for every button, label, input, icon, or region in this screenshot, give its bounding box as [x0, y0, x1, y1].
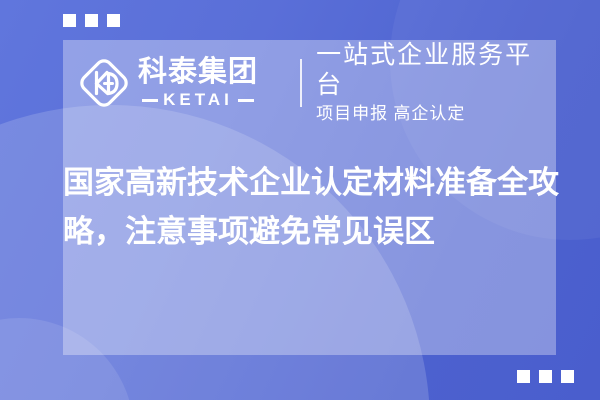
banner-header: 科泰集团 KETAI 一站式企业服务平台 项目申报 高企认定	[63, 40, 556, 125]
decorative-squares-bottom	[517, 370, 574, 383]
square-icon	[107, 14, 120, 27]
slogan-sub: 项目申报 高企认定	[316, 102, 556, 126]
promo-banner: 科泰集团 KETAI 一站式企业服务平台 项目申报 高企认定 国家高新技术企业认…	[0, 0, 600, 400]
square-icon	[63, 14, 76, 27]
slogan-main: 一站式企业服务平台	[316, 40, 556, 100]
brand-name-cn: 科泰集团	[138, 56, 258, 88]
brand-name-en: KETAI	[163, 91, 233, 109]
rule-left	[142, 99, 158, 102]
ketai-diamond-monogram-icon	[77, 56, 131, 110]
decorative-squares-top	[63, 14, 120, 27]
square-icon	[85, 14, 98, 27]
vertical-divider	[300, 59, 302, 107]
brand-wordmark: 科泰集团 KETAI	[138, 56, 258, 109]
brand-logo: 科泰集团 KETAI	[77, 56, 292, 110]
rule-right	[238, 99, 254, 102]
slogan: 一站式企业服务平台 项目申报 高企认定	[316, 40, 556, 126]
article-title: 国家高新技术企业认定材料准备全攻略，注意事项避免常见误区	[63, 158, 563, 256]
brand-name-en-row: KETAI	[142, 91, 254, 109]
square-icon	[539, 370, 552, 383]
square-icon	[561, 370, 574, 383]
square-icon	[517, 370, 530, 383]
